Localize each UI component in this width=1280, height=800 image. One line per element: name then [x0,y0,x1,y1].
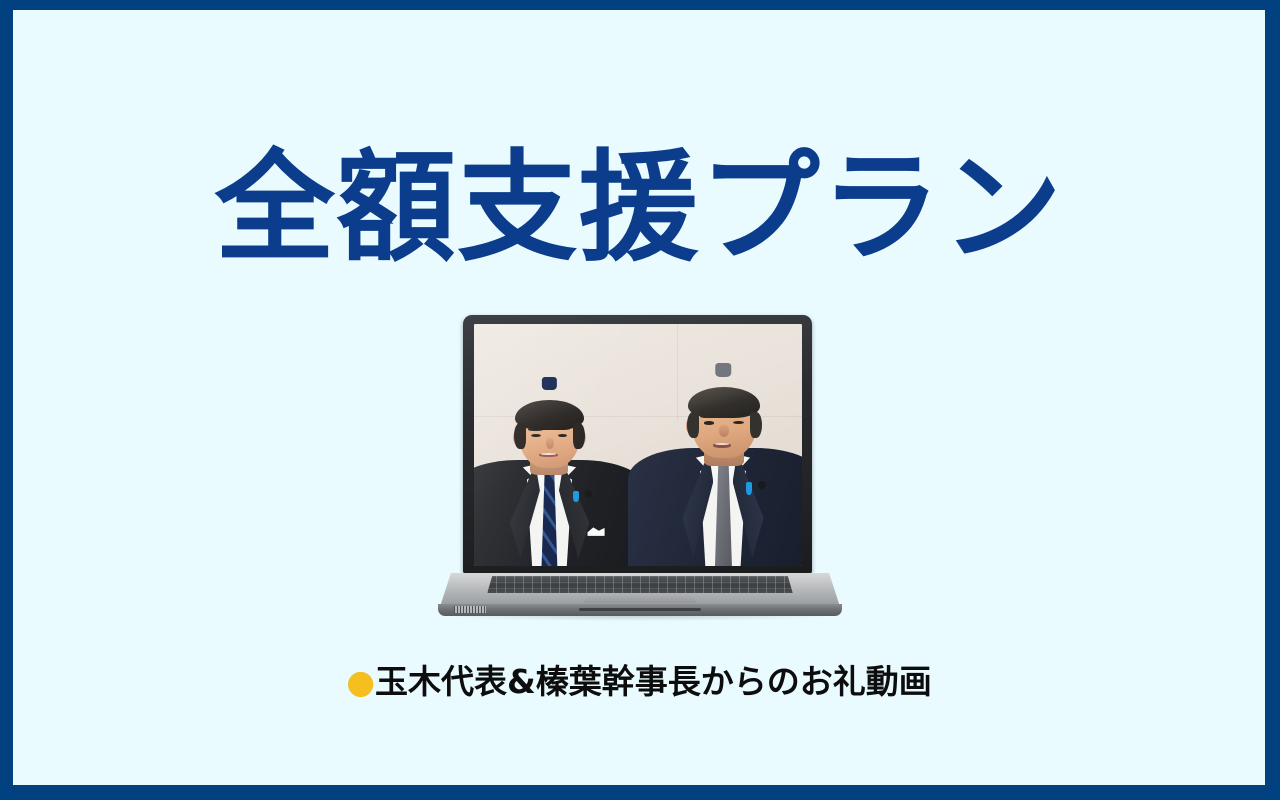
laptop-lid [463,315,812,574]
eye-right [733,421,744,424]
hair-side-right [750,412,762,438]
eye-right [558,434,567,437]
person-right [628,363,802,566]
caption-label: 玉木代表&榛葉幹事長からのお礼動画 [375,662,932,701]
trackpad[interactable] [583,594,696,603]
hair-side-left [514,423,525,449]
page-title: 全額支援プラン [13,149,1265,269]
lapel-pin-icon [746,482,752,495]
nose [719,425,728,437]
hair-side-left [687,412,699,438]
hair [688,387,760,417]
lid-latch [579,608,700,611]
vent-grille-icon [454,606,486,613]
hair-side-right [573,423,584,449]
person-left [474,377,645,566]
bullet-icon: ● [346,662,375,701]
keyboard[interactable] [487,576,792,593]
caption: ●玉木代表&榛葉幹事長からのお礼動画 [13,655,1265,703]
screen-photo [474,324,802,566]
base-shadow [446,616,834,621]
nose [546,438,554,449]
laptop-mockup [438,315,842,618]
member-badge-icon [758,481,766,489]
teeth [541,453,556,455]
laptop-base [438,573,842,621]
tie-knot [542,377,556,390]
slide-canvas: 全額支援プラン [13,10,1265,785]
tie-knot [715,363,730,377]
lapel-pin-icon [573,491,579,502]
slide-frame: 全額支援プラン [0,0,1280,800]
eye-left [531,434,540,437]
laptop-screen[interactable] [474,324,802,566]
eye-left [704,421,715,424]
